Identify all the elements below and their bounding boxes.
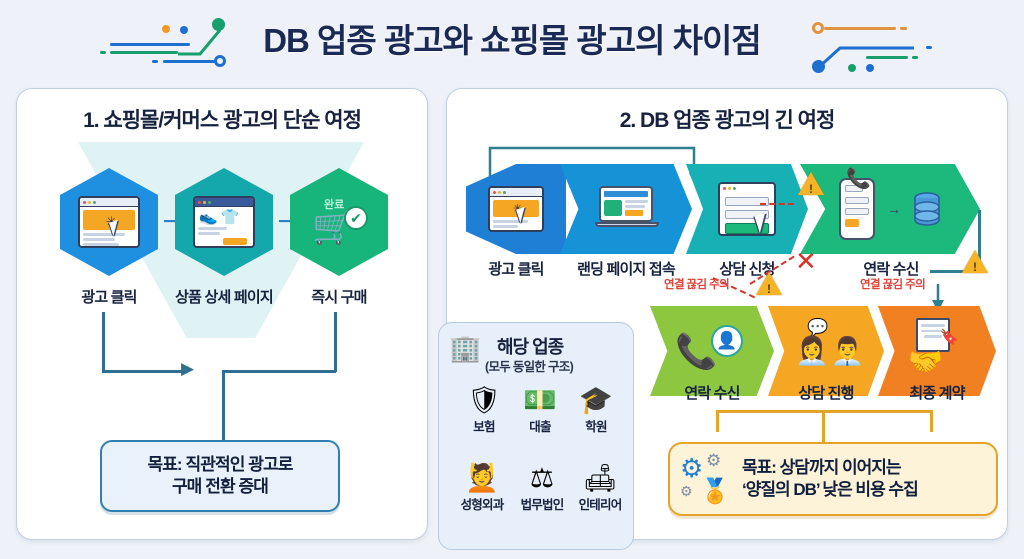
- connector-line-right: [334, 312, 337, 372]
- left-goal-line2: 구매 전환 증대: [147, 476, 292, 498]
- interior-room-icon: 🛋: [565, 463, 635, 493]
- warning-exclamation: !: [973, 260, 977, 274]
- warning-label-2: 연결 끊김 주의: [860, 276, 925, 292]
- left-goal-box: 목표: 직관적인 광고로 구매 전환 증대: [100, 440, 340, 512]
- contract-handshake-icon: 🔖 🤝: [902, 322, 972, 380]
- right-step-7-label: 최종 계약: [862, 382, 1012, 403]
- left-panel-title: 1. 쇼핑몰/커머스 광고의 단순 여정: [16, 104, 428, 134]
- connector-line-down: [222, 370, 225, 442]
- industry-item-label: 보험: [453, 416, 515, 435]
- warning-exclamation: !: [767, 282, 771, 296]
- right-panel-title: 2. DB 업종 광고의 긴 여정: [446, 104, 1008, 134]
- goal-connector-left: [716, 410, 719, 432]
- connector-arrow: ▶: [181, 364, 194, 374]
- left-goal-line1: 목표: 직관적인 광고로: [147, 454, 292, 476]
- industry-item-label: 학원: [565, 416, 627, 435]
- connector-line-left-h: [102, 370, 184, 373]
- industry-subtitle: (모두 동일한 구조): [485, 356, 573, 375]
- gear-award-icon: ⚙ ⚙ ⚙ 🏅: [680, 451, 736, 507]
- database-icon: [913, 192, 941, 226]
- right-step-2-landing-page[interactable]: [560, 164, 692, 254]
- connector-line-right-h: [222, 370, 336, 373]
- goal-connector-down: [822, 410, 825, 444]
- consultation-people-icon: 💬 👩‍💼 👨‍💼: [791, 322, 861, 380]
- deco-polyline-blue-icon: [810, 32, 920, 72]
- building-icon: 🏢: [449, 333, 481, 363]
- industry-item-interior[interactable]: 🛋 인테리어: [565, 463, 635, 513]
- product-detail-page-icon: 👟 👕: [193, 196, 255, 248]
- right-step-3-consult-request[interactable]: [686, 164, 808, 254]
- industry-item-label: 대출: [509, 416, 571, 435]
- industry-item-label: 인테리어: [565, 494, 635, 513]
- industry-item-loan[interactable]: 💵 대출: [509, 385, 571, 435]
- industry-item-insurance[interactable]: 🛡 보험: [453, 385, 515, 435]
- header: DB 업종 광고와 쇼핑몰 광고의 차이점: [0, 0, 1024, 82]
- laptop-landing-page-icon: [595, 186, 657, 232]
- check-icon: ✔: [344, 206, 368, 230]
- industry-box: 🏢 해당 업종 (모두 동일한 구조) 🛡 보험 💵 대출 🎓 학원 💆 성형외…: [438, 322, 634, 550]
- industry-item-academy[interactable]: 🎓 학원: [565, 385, 627, 435]
- right-goal-box: ⚙ ⚙ ⚙ 🏅 목표: 상담까지 이어지는 ‘양질의 DB’ 낮은 비용 수집: [668, 442, 998, 516]
- shopping-cart-complete-icon: 완료 🛒 ✔: [310, 198, 368, 246]
- right-goal-line2: ‘양질의 DB’ 낮은 비용 수집: [742, 479, 918, 501]
- warning-label-1: 연결 끊김 주의: [664, 276, 729, 292]
- shield-check-icon: 🛡: [453, 385, 515, 415]
- telephone-contact-icon: 📞 👤: [675, 323, 749, 379]
- connector-line-left: [102, 312, 105, 372]
- dashed-connector: [760, 203, 794, 205]
- right-goal-line1: 목표: 상담까지 이어지는: [742, 457, 918, 479]
- money-cash-icon: 💵: [509, 385, 571, 415]
- goal-connector-right: [930, 410, 933, 432]
- infographic-canvas: DB 업종 광고와 쇼핑몰 광고의 차이점: [0, 0, 1024, 559]
- right-step-4-contact-received[interactable]: → 📞: [800, 164, 980, 254]
- browser-ad-click-icon: ✳: [78, 196, 140, 248]
- left-step-3-label: 즉시 구매: [269, 286, 409, 307]
- red-x-icon: ✕: [795, 246, 817, 277]
- browser-ad-click-icon: ✳: [488, 186, 544, 232]
- graduation-book-icon: 🎓: [565, 385, 627, 415]
- warning-exclamation: !: [809, 182, 813, 196]
